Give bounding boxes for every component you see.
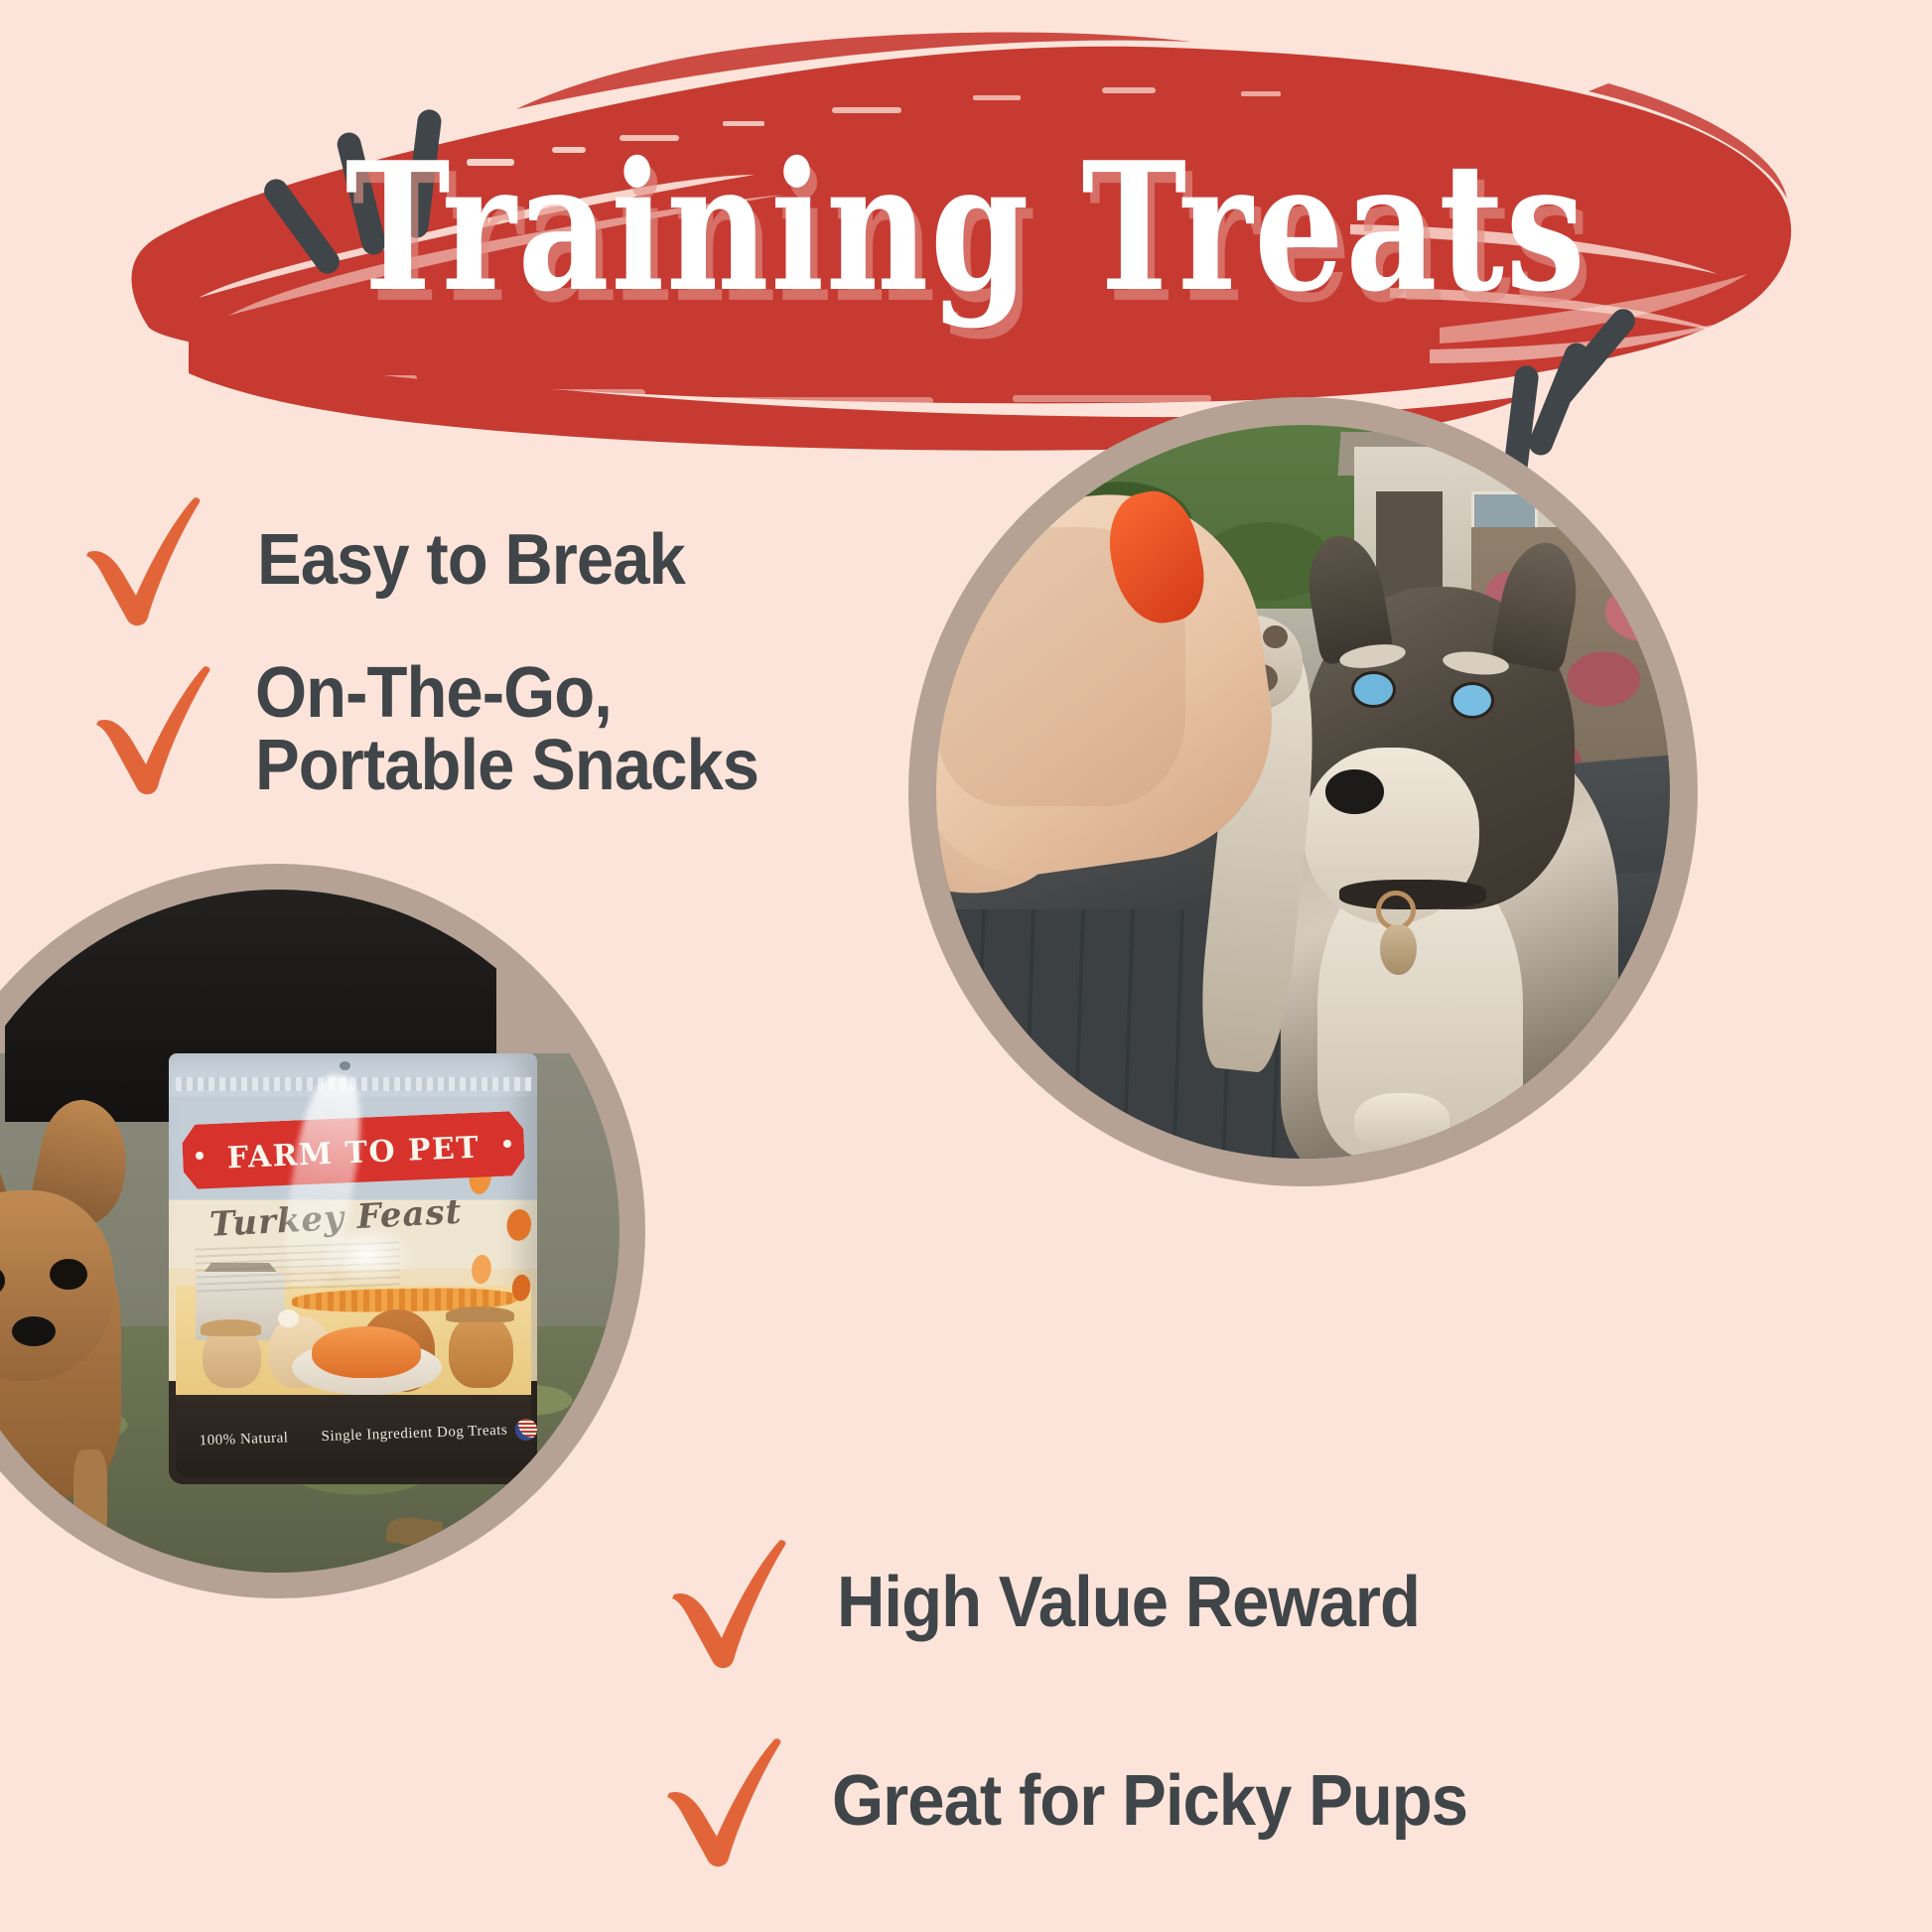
claim-natural: 100% Natural [199, 1430, 288, 1449]
check-icon [84, 655, 233, 804]
feature-item-high-value-reward: High Value Reward [660, 1529, 1463, 1678]
bag-photo-inner: FARM TO PET Turkey Feast 100% Natural Si… [0, 890, 620, 1573]
feature-item-easy-to-break: Easy to Break [74, 486, 717, 635]
page-title: Training Treats [194, 139, 1739, 316]
infographic-canvas: Training Treats Easy to Break On-The-Go,… [0, 0, 1932, 1932]
feature-label: High Value Reward [837, 1567, 1420, 1639]
feature-item-great-for-picky-pups: Great for Picky Pups [655, 1727, 1515, 1876]
husky-scene [936, 425, 1670, 1159]
bag-scene: FARM TO PET Turkey Feast 100% Natural Si… [0, 890, 620, 1573]
chihuahua-bag-photo: FARM TO PET Turkey Feast 100% Natural Si… [0, 864, 645, 1598]
claim-single-ingredient: Single Ingredient Dog Treats [321, 1422, 507, 1446]
feature-label: Great for Picky Pups [832, 1765, 1467, 1838]
check-icon [74, 486, 223, 635]
feature-item-on-the-go: On-The-Go, Portable Snacks [84, 655, 796, 804]
husky-photo-inner [936, 425, 1670, 1159]
husky-treat-photo: Hand holding an orange treat above a hus… [908, 397, 1698, 1186]
feature-label: On-The-Go, Portable Snacks [255, 657, 759, 803]
check-icon [660, 1529, 809, 1678]
check-icon [655, 1727, 804, 1876]
feature-label: Easy to Break [257, 524, 685, 597]
